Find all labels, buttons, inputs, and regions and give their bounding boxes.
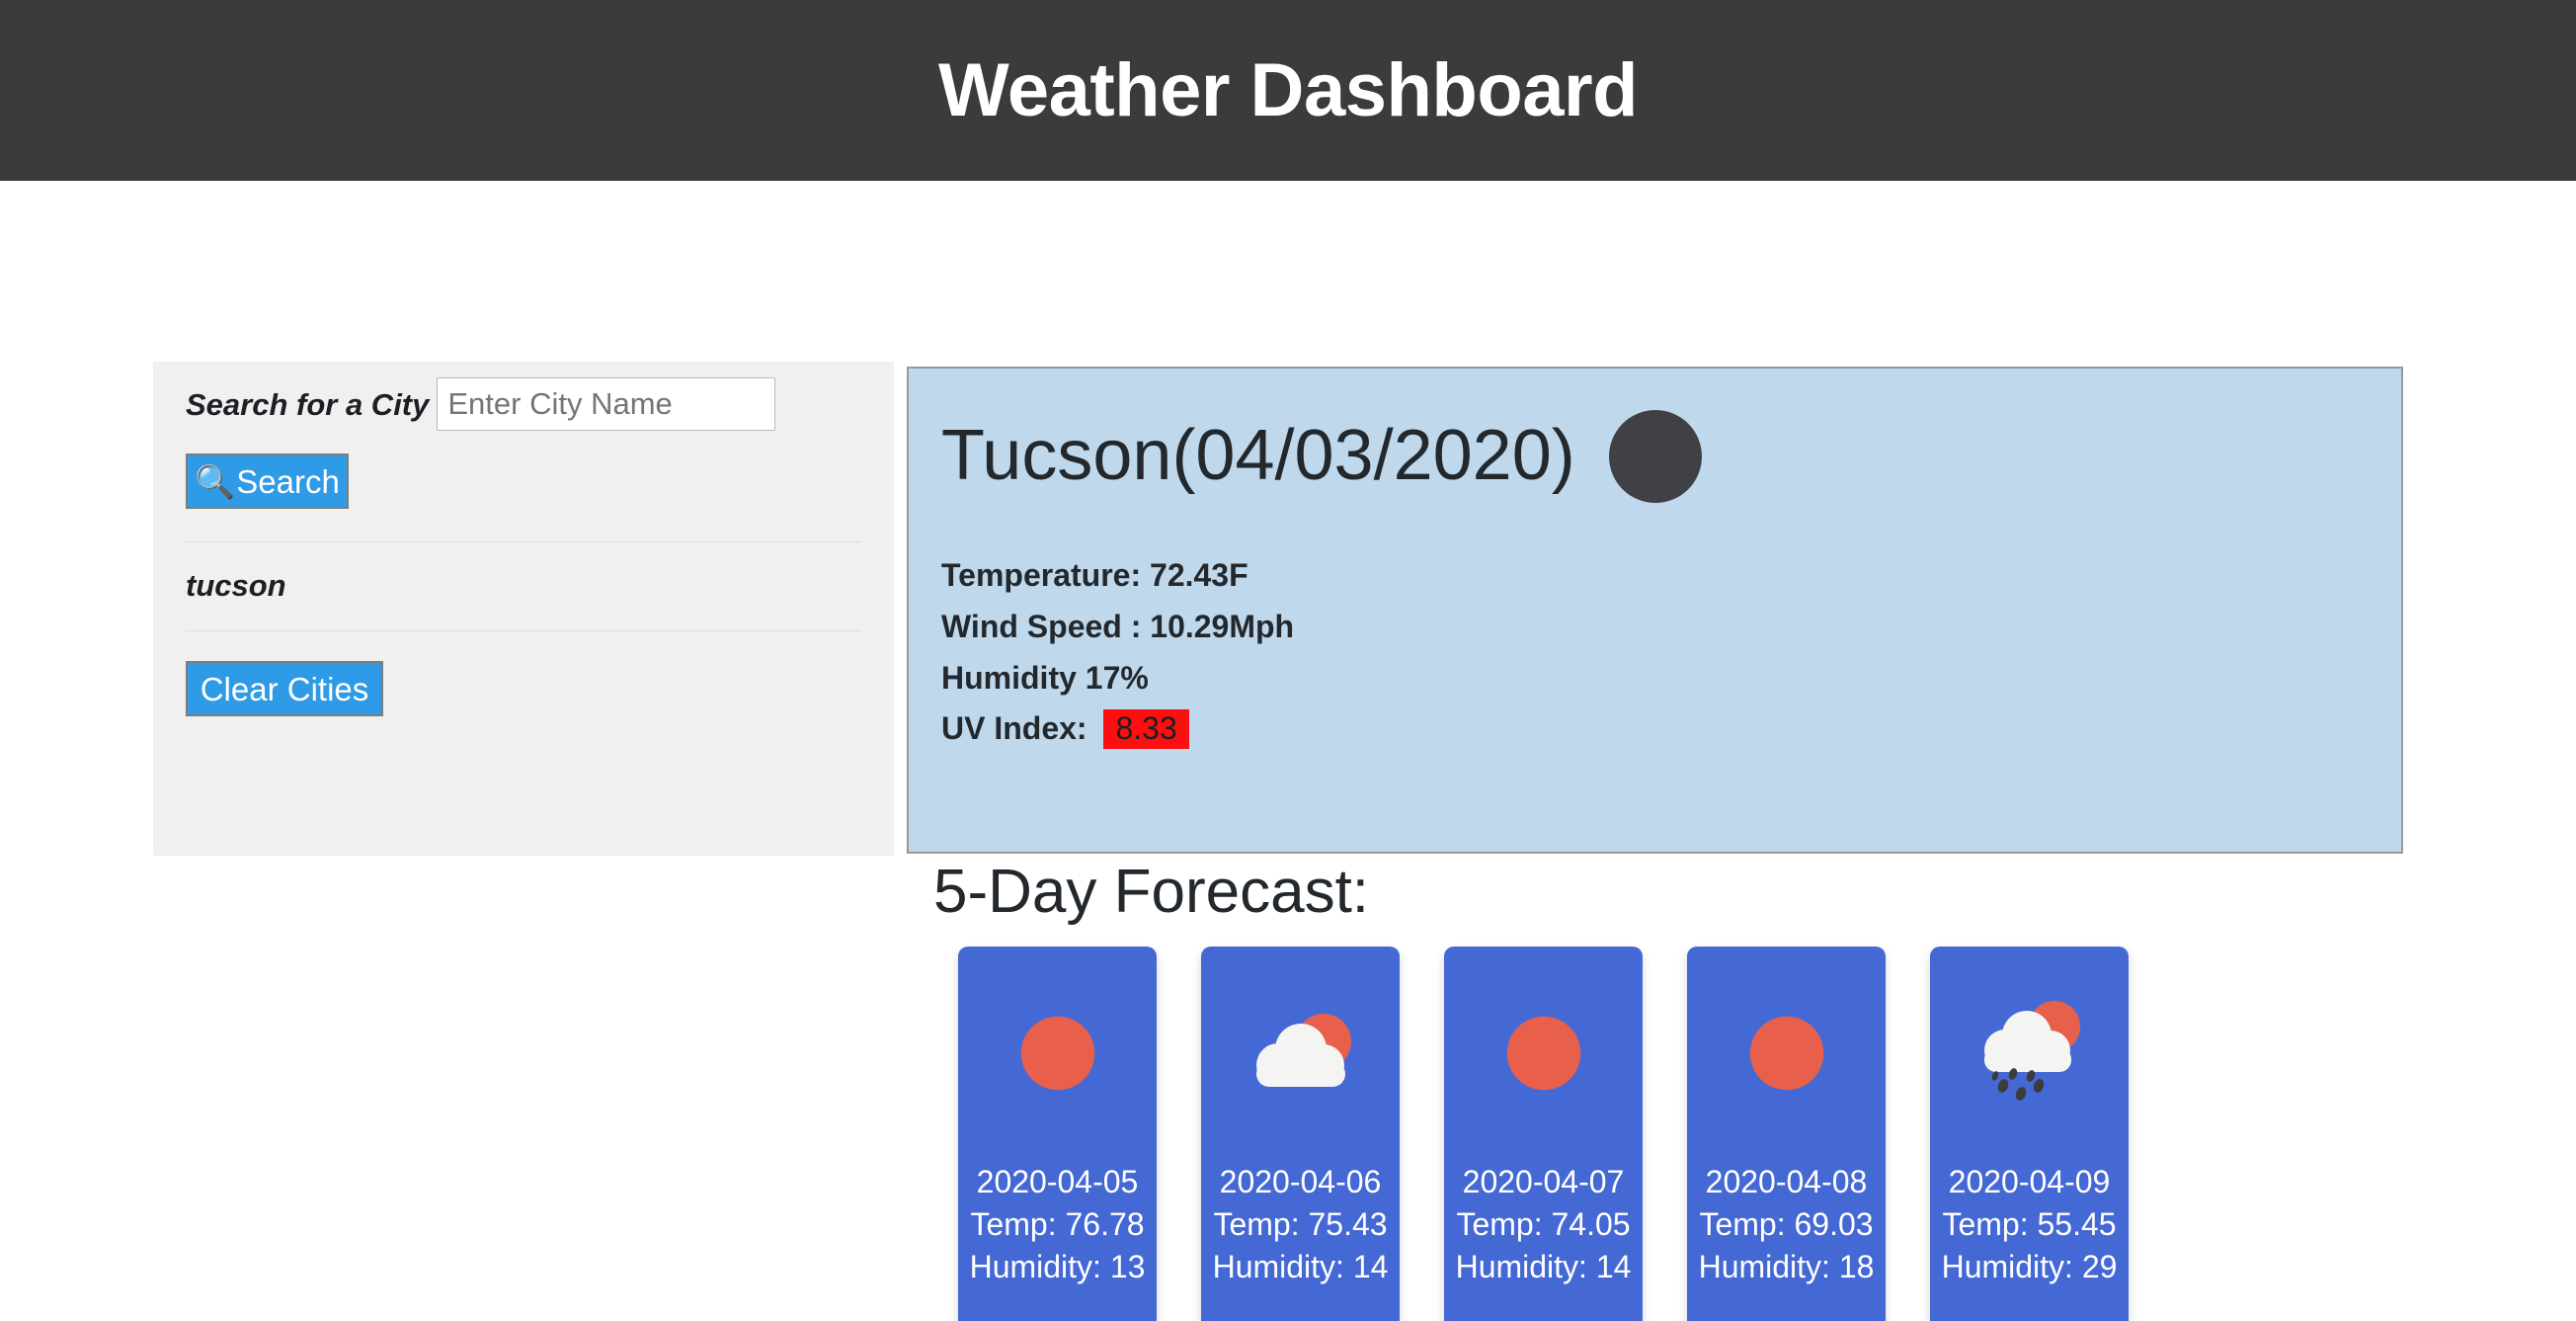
forecast-date: 2020-04-07 (1463, 1161, 1625, 1203)
search-panel: Search for a City 🔍 Search tucson Clear … (153, 362, 894, 856)
forecast-temp: Temp: 69.03 (1699, 1203, 1873, 1246)
search-input[interactable] (437, 377, 775, 431)
current-weather-stats: Temperature: 72.43F Wind Speed : 10.29Mp… (909, 503, 2401, 755)
page-title: Weather Dashboard (938, 53, 1638, 128)
page-header: Weather Dashboard (0, 0, 2576, 181)
search-button-label: Search (236, 465, 340, 498)
forecast-card-row: 2020-04-05Temp: 76.78Humidity: 132020-04… (958, 947, 2129, 1321)
uv-index-label: UV Index: (941, 710, 1087, 746)
page-body: Search for a City 🔍 Search tucson Clear … (0, 181, 2576, 1321)
forecast-humidity: Humidity: 13 (970, 1246, 1146, 1288)
forecast-date: 2020-04-06 (1220, 1161, 1382, 1203)
sun-icon (1444, 947, 1643, 1159)
weather-icon-placeholder (1609, 410, 1702, 503)
forecast-humidity: Humidity: 18 (1699, 1246, 1875, 1288)
list-item[interactable]: tucson (153, 542, 894, 630)
forecast-temp: Temp: 75.43 (1213, 1203, 1387, 1246)
forecast-date: 2020-04-08 (1706, 1161, 1868, 1203)
current-city-date: Tucson(04/03/2020) (941, 417, 1575, 495)
search-button[interactable]: 🔍 Search (186, 454, 349, 509)
temperature-stat: Temperature: 72.43F (941, 550, 2401, 602)
search-row: Search for a City (153, 362, 894, 431)
current-weather-card: Tucson(04/03/2020) Temperature: 72.43F W… (907, 367, 2403, 854)
forecast-card: 2020-04-08Temp: 69.03Humidity: 18 (1687, 947, 1886, 1321)
forecast-heading: 5-Day Forecast: (933, 859, 1369, 926)
forecast-humidity: Humidity: 14 (1456, 1246, 1632, 1288)
humidity-stat: Humidity 17% (941, 653, 2401, 704)
spacer (153, 631, 894, 661)
forecast-date: 2020-04-09 (1949, 1161, 2111, 1203)
sun-icon (958, 947, 1157, 1159)
uv-index-badge: 8.33 (1103, 709, 1188, 749)
search-label: Search for a City (186, 389, 429, 420)
sun-behind-rain-cloud-icon (1930, 947, 2129, 1159)
forecast-date: 2020-04-05 (977, 1161, 1139, 1203)
forecast-humidity: Humidity: 29 (1942, 1246, 2118, 1288)
sun-icon (1687, 947, 1886, 1159)
clear-cities-label: Clear Cities (201, 673, 369, 705)
forecast-card: 2020-04-09Temp: 55.45Humidity: 29 (1930, 947, 2129, 1321)
uv-index-stat: UV Index: 8.33 (941, 703, 2401, 755)
sun-behind-cloud-icon (1201, 947, 1400, 1159)
forecast-temp: Temp: 76.78 (970, 1203, 1144, 1246)
forecast-temp: Temp: 55.45 (1942, 1203, 2116, 1246)
forecast-card: 2020-04-05Temp: 76.78Humidity: 13 (958, 947, 1157, 1321)
search-history-list: tucson (153, 542, 894, 630)
forecast-card: 2020-04-06Temp: 75.43Humidity: 14 (1201, 947, 1400, 1321)
clear-cities-button[interactable]: Clear Cities (186, 661, 383, 716)
current-weather-title-row: Tucson(04/03/2020) (909, 369, 2401, 503)
wind-speed-stat: Wind Speed : 10.29Mph (941, 602, 2401, 653)
search-icon: 🔍 (195, 465, 235, 498)
forecast-temp: Temp: 74.05 (1456, 1203, 1630, 1246)
forecast-humidity: Humidity: 14 (1213, 1246, 1389, 1288)
forecast-card: 2020-04-07Temp: 74.05Humidity: 14 (1444, 947, 1643, 1321)
